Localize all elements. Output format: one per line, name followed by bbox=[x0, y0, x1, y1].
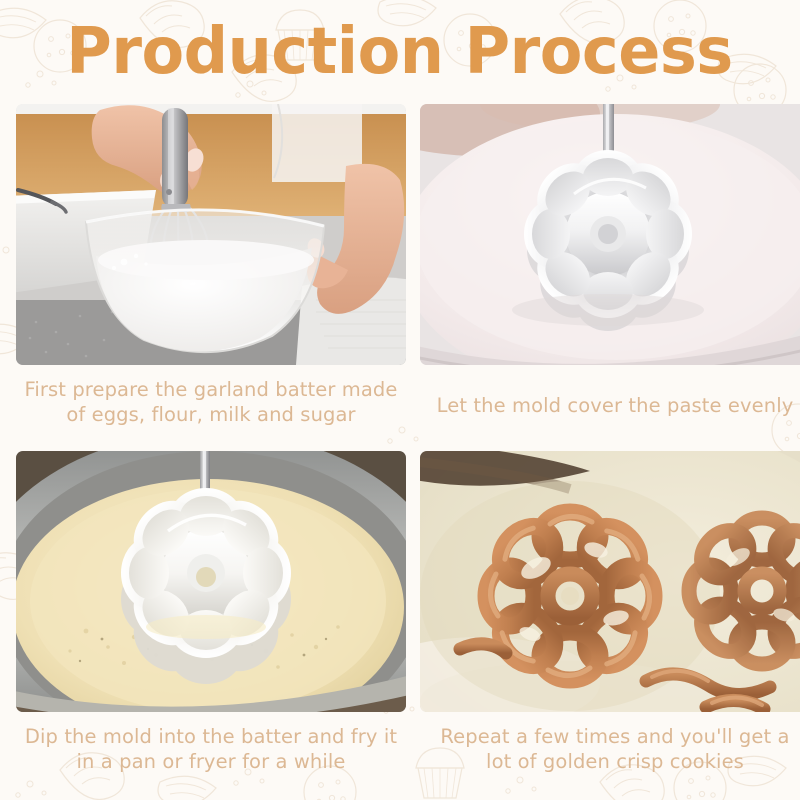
header: Production Process bbox=[0, 0, 800, 104]
step-caption: Repeat a few times and you'll get a lot … bbox=[420, 725, 800, 781]
mold-dipped-in-hot-oil-photo bbox=[16, 451, 406, 712]
step-3: Dip the mold into the batter and fry it … bbox=[16, 451, 406, 781]
step-1: First prepare the garland batter made of… bbox=[16, 104, 406, 434]
step-caption: First prepare the garland batter made of… bbox=[16, 378, 406, 434]
fried-golden-cookies-photo bbox=[420, 451, 800, 712]
step-2: Let the mold cover the paste evenly bbox=[420, 104, 800, 434]
step-caption: Let the mold cover the paste evenly bbox=[420, 378, 800, 434]
step-4: Repeat a few times and you'll get a lot … bbox=[420, 451, 800, 781]
flower-mold-in-batter-photo bbox=[420, 104, 800, 365]
whisking-batter-in-bowl-photo bbox=[16, 104, 406, 365]
step-caption: Dip the mold into the batter and fry it … bbox=[16, 725, 406, 781]
infographic-page: Production Process bbox=[0, 0, 800, 800]
page-title: Production Process bbox=[67, 20, 733, 84]
steps-grid: First prepare the garland batter made of… bbox=[0, 104, 800, 781]
